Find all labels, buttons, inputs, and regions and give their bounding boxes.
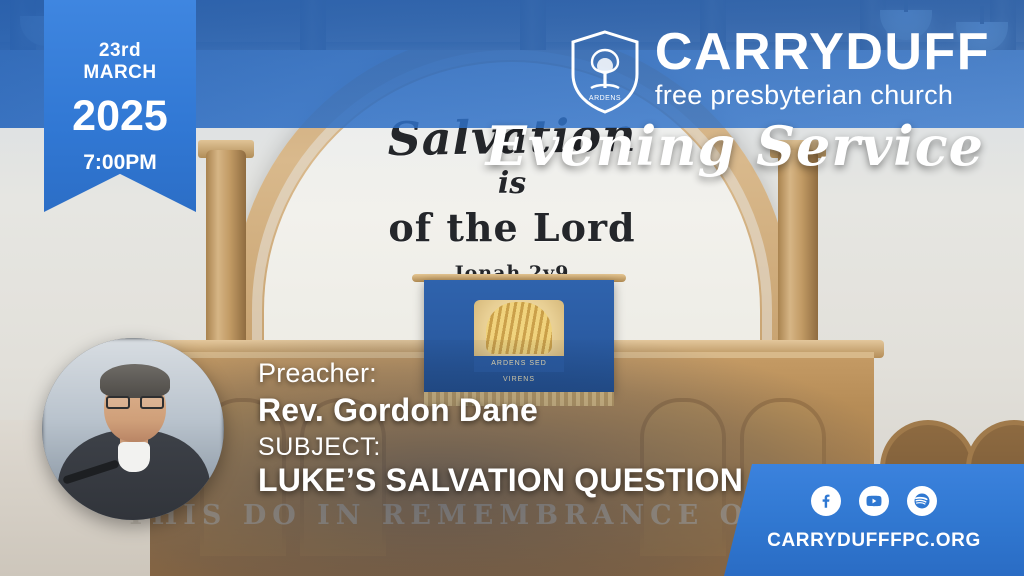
spotify-icon[interactable] [907,486,937,516]
scripture-line-3: of the Lord [264,205,760,250]
church-crest-tree-icon: ARDENS [567,28,643,114]
facebook-icon[interactable] [811,486,841,516]
church-name: CARRYDUFF [655,26,990,78]
portrait-hair [100,364,170,398]
subject-title: LUKE’S SALVATION QUESTION [258,462,743,499]
date-day: 23rd [44,40,196,62]
social-panel: CARRYDUFFFPC.ORG [724,464,1024,576]
brand-wordmark: CARRYDUFF free presbyterian church [655,26,990,109]
social-icons [724,486,1024,516]
svg-text:ARDENS: ARDENS [589,95,621,102]
preacher-label: Preacher: [258,358,377,389]
service-announcement-graphic: Salvation is of the Lord Jonah 2v9 ARDEN… [0,0,1024,576]
service-title: Evening Service [486,114,984,178]
website-url[interactable]: CARRYDUFFFPC.ORG [724,530,1024,552]
date-month: MARCH [44,62,196,84]
brand-lockup: ARDENS CARRYDUFF free presbyterian churc… [567,26,990,114]
church-subtitle: free presbyterian church [655,82,990,109]
subject-label: SUBJECT: [258,433,381,462]
clerical-collar-icon [118,442,150,472]
preacher-name: Rev. Gordon Dane [258,392,538,429]
date-year: 2025 [44,92,196,141]
service-time: 7:00PM [44,151,196,175]
glasses-icon [104,396,166,409]
youtube-icon[interactable] [859,486,889,516]
